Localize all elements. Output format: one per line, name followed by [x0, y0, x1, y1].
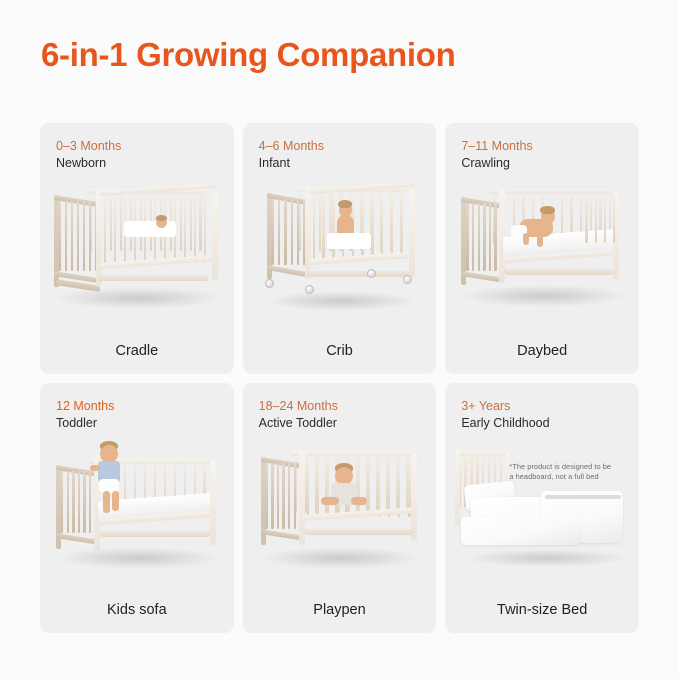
stage-card-cradle[interactable]: 0–3 Months Newborn — [40, 123, 234, 374]
bed-disclaimer-text: *The product is designed to be a headboa… — [509, 462, 613, 483]
stage-label: Crawling — [461, 155, 532, 172]
age-label: 7–11 Months — [461, 138, 532, 154]
infographic-page: 6-in-1 Growing Companion 0–3 Months Newb… — [0, 0, 679, 679]
stage-card-playpen[interactable]: 18–24 Months Active Toddler — [243, 383, 437, 634]
card-header: 3+ Years Early Childhood — [461, 398, 549, 432]
stage-card-crib[interactable]: 4–6 Months Infant — [243, 123, 437, 374]
stage-card-twin-bed[interactable]: 3+ Years Early Childhood *The product is… — [445, 383, 639, 634]
card-caption: Kids sofa — [40, 601, 234, 619]
stage-card-daybed[interactable]: 7–11 Months Crawling — [445, 123, 639, 374]
cradle-photo — [40, 175, 234, 328]
stage-label: Active Toddler — [259, 415, 338, 432]
stage-label: Infant — [259, 155, 324, 172]
page-title: 6-in-1 Growing Companion — [41, 36, 455, 74]
stage-card-kids-sofa[interactable]: 12 Months Toddler — [40, 383, 234, 634]
card-header: 4–6 Months Infant — [259, 138, 324, 172]
stage-label: Newborn — [56, 155, 121, 172]
stage-label: Toddler — [56, 415, 114, 432]
stage-label: Early Childhood — [461, 415, 549, 432]
card-header: 0–3 Months Newborn — [56, 138, 121, 172]
card-header: 12 Months Toddler — [56, 398, 114, 432]
card-caption: Playpen — [243, 601, 437, 619]
card-header: 18–24 Months Active Toddler — [259, 398, 338, 432]
age-label: 0–3 Months — [56, 138, 121, 154]
card-header: 7–11 Months Crawling — [461, 138, 532, 172]
kids-sofa-photo — [40, 435, 234, 588]
card-caption: Crib — [243, 342, 437, 360]
daybed-photo — [445, 175, 639, 328]
age-label: 4–6 Months — [259, 138, 324, 154]
card-caption: Daybed — [445, 342, 639, 360]
twin-bed-photo: *The product is designed to be a headboa… — [445, 435, 639, 588]
stage-card-grid: 0–3 Months Newborn — [40, 123, 639, 633]
playpen-photo — [243, 435, 437, 588]
age-label: 18–24 Months — [259, 398, 338, 414]
crib-photo — [243, 175, 437, 328]
age-label: 3+ Years — [461, 398, 549, 414]
card-caption: Twin-size Bed — [445, 601, 639, 619]
card-caption: Cradle — [40, 342, 234, 360]
age-label: 12 Months — [56, 398, 114, 414]
